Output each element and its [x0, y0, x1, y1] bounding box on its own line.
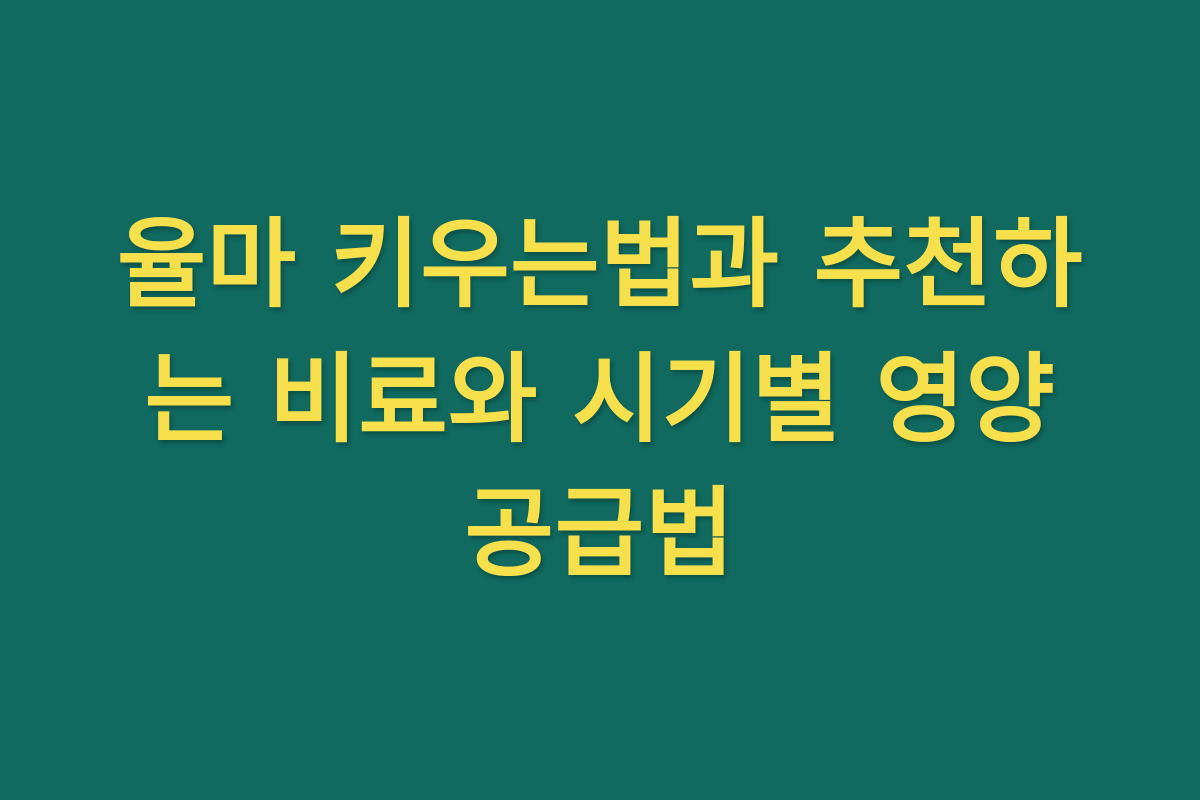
headline-block: 율마 키우는법과 추천하 는 비료와 시기별 영양 공급법: [85, 198, 1115, 602]
thumbnail-card: 율마 키우는법과 추천하 는 비료와 시기별 영양 공급법: [0, 0, 1200, 800]
page-title: 율마 키우는법과 추천하 는 비료와 시기별 영양 공급법: [95, 198, 1105, 602]
headline-line-1: 율마 키우는법과 추천하: [95, 198, 1105, 333]
headline-line-2: 는 비료와 시기별 영양: [95, 333, 1105, 468]
headline-line-3: 공급법: [95, 467, 1105, 602]
